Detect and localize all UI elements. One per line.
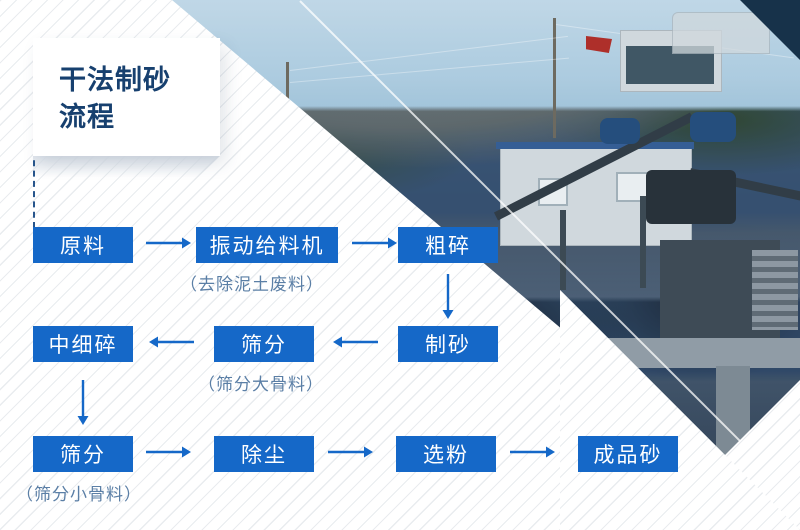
flow-node-sand-making[interactable]: 制砂 <box>398 326 498 362</box>
flow-node-dust-removal[interactable]: 除尘 <box>214 436 314 472</box>
flow-node-raw-material[interactable]: 原料 <box>33 227 133 263</box>
arrow-left-icon <box>332 335 378 349</box>
flow-node-screening-small[interactable]: 筛分 <box>33 436 133 472</box>
flow-node-screening-large[interactable]: 筛分 <box>214 326 314 362</box>
sublabel-screen-small-aggregate: （筛分小骨料） <box>16 480 142 505</box>
flow-node-medium-fine-crushing[interactable]: 中细碎 <box>33 326 133 362</box>
flow-node-powder-selecting[interactable]: 选粉 <box>396 436 496 472</box>
arrow-right-icon <box>146 236 192 250</box>
infographic-canvas: 干法制砂 流程 原料 振动给料机 粗碎 （去除泥土废料） 中细碎 筛分 制砂 （… <box>0 0 800 530</box>
flow-node-coarse-crushing[interactable]: 粗碎 <box>398 227 498 263</box>
process-flow-diagram: 原料 振动给料机 粗碎 （去除泥土废料） 中细碎 筛分 制砂 （筛分大骨料） 筛… <box>0 0 800 530</box>
arrow-down-icon <box>441 274 455 320</box>
arrow-right-icon <box>352 236 398 250</box>
sublabel-screen-large-aggregate: （筛分大骨料） <box>198 370 324 395</box>
arrow-right-icon <box>146 445 192 459</box>
arrow-left-icon <box>148 335 194 349</box>
flow-node-vibrating-feeder[interactable]: 振动给料机 <box>196 227 338 263</box>
arrow-right-icon <box>510 445 556 459</box>
sublabel-remove-soil-waste: （去除泥土废料） <box>180 270 324 295</box>
arrow-right-icon <box>328 445 374 459</box>
arrow-down-icon <box>76 380 90 426</box>
flow-node-finished-sand[interactable]: 成品砂 <box>578 436 678 472</box>
